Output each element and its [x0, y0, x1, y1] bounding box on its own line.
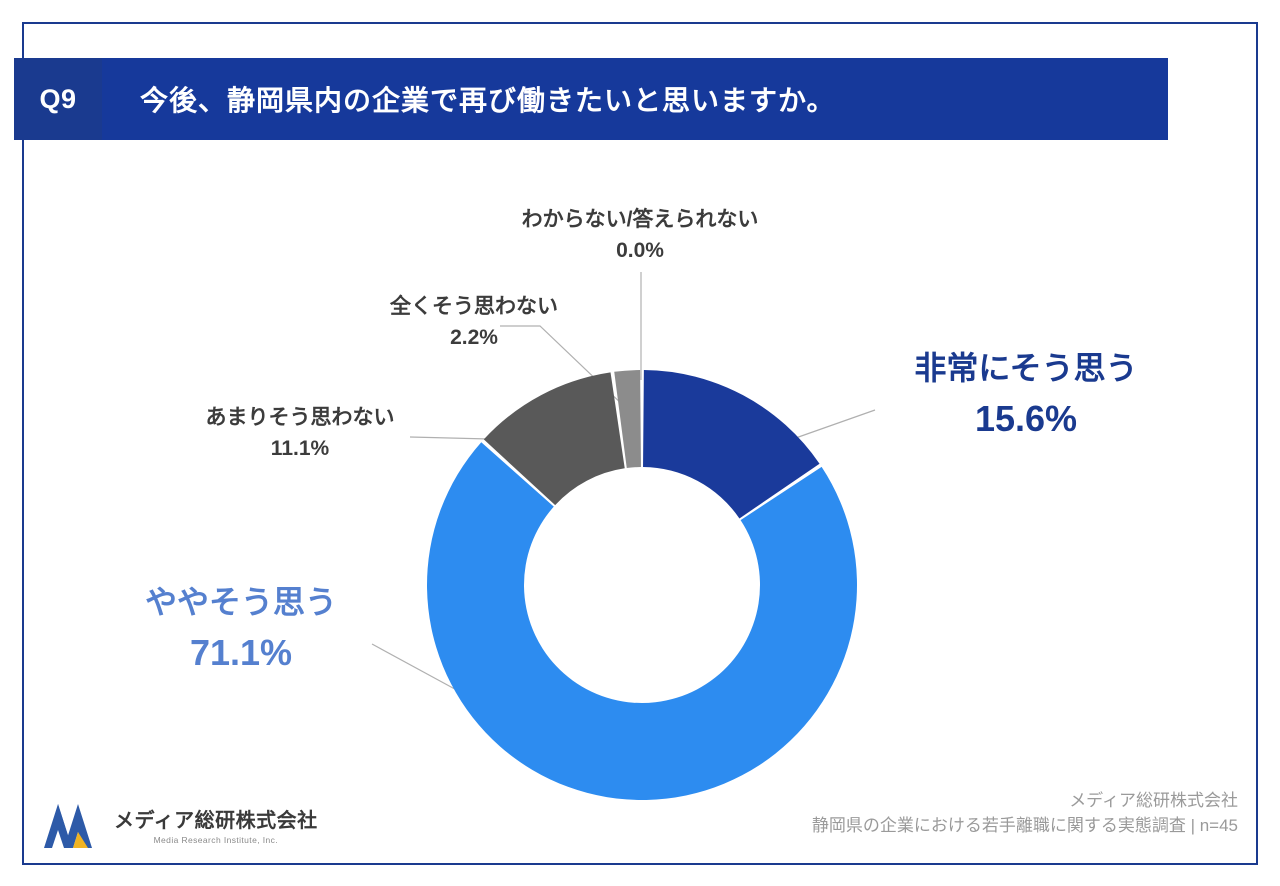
callout-somewhat-agree-name: ややそう思う — [145, 582, 337, 622]
footer-note: メディア総研株式会社 静岡県の企業における若手離職に関する実態調査 | n=45 — [812, 789, 1238, 838]
callout-strongly-agree-value: 15.6% — [914, 396, 1137, 441]
callout-strongly-agree: 非常にそう思う 15.6% — [914, 348, 1137, 441]
callout-somewhat-agree-value: 71.1% — [145, 630, 337, 675]
callout-somewhat-agree: ややそう思う 71.1% — [145, 582, 337, 675]
donut-segments — [427, 370, 857, 800]
callout-strongly-agree-name: 非常にそう思う — [914, 348, 1137, 388]
callout-unknown-name: わからない/答えられない — [522, 206, 759, 233]
footer-survey: 静岡県の企業における若手離職に関する実態調査 | n=45 — [812, 814, 1238, 839]
callout-somewhat-disagree-value: 11.1% — [206, 435, 395, 462]
callout-strongly-disagree-value: 2.2% — [390, 324, 558, 351]
logo-name-en: Media Research Institute, Inc. — [114, 835, 318, 845]
company-logo: メディア総研株式会社 Media Research Institute, Inc… — [42, 798, 318, 850]
logo-mark-icon — [42, 798, 104, 850]
leader-line-strongagree — [790, 410, 875, 440]
callout-somewhat-disagree: あまりそう思わない 11.1% — [206, 404, 395, 463]
callout-unknown: わからない/答えられない 0.0% — [522, 206, 759, 265]
callout-somewhat-disagree-name: あまりそう思わない — [206, 404, 395, 431]
donut-chart: わからない/答えられない 0.0% 全くそう思わない 2.2% あまりそう思わな… — [0, 0, 1280, 886]
logo-name-jp: メディア総研株式会社 — [114, 804, 318, 833]
callout-strongly-disagree-name: 全くそう思わない — [390, 293, 558, 320]
donut-chart-svg — [0, 0, 1280, 886]
segment-somewhat-agree — [427, 442, 857, 800]
logo-text: メディア総研株式会社 Media Research Institute, Inc… — [114, 804, 318, 845]
slide-canvas: Q9 今後、静岡県内の企業で再び働きたいと思いますか。 わからない/答えられない… — [0, 0, 1280, 886]
callout-strongly-disagree: 全くそう思わない 2.2% — [390, 293, 558, 352]
callout-unknown-value: 0.0% — [522, 237, 759, 264]
footer-company: メディア総研株式会社 — [812, 789, 1238, 814]
